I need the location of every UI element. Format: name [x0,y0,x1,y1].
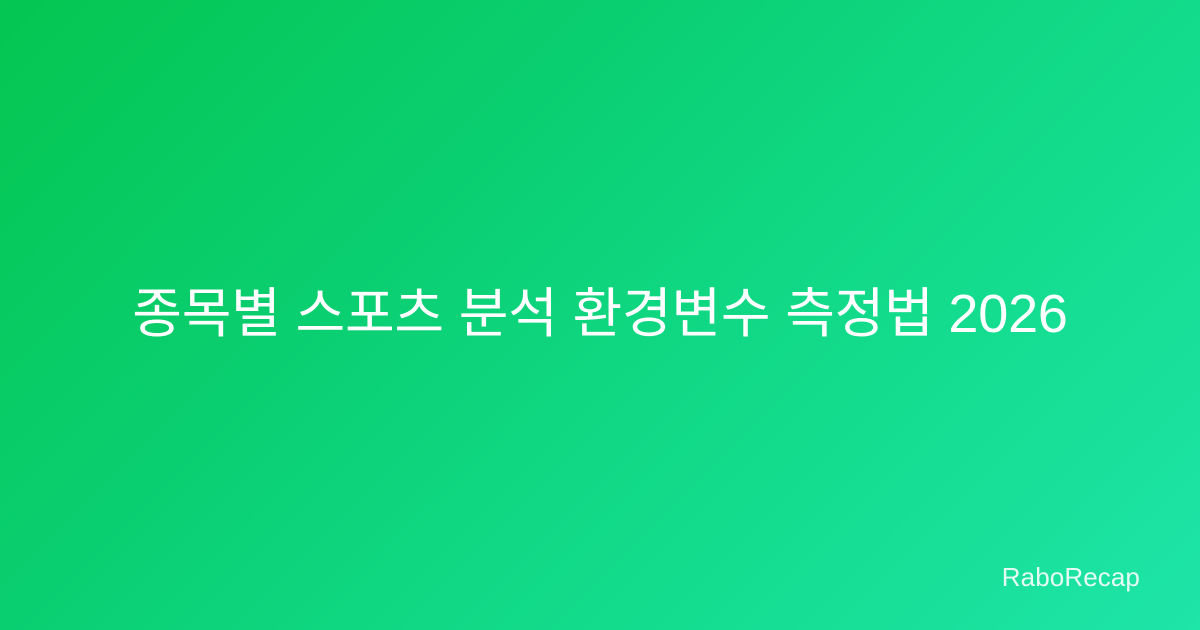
brand-watermark: RaboRecap [1002,564,1140,590]
og-card: 종목별 스포츠 분석 환경변수 측정법 2026 RaboRecap [0,0,1200,630]
page-title: 종목별 스포츠 분석 환경변수 측정법 2026 [124,279,1076,350]
card-content-area: 종목별 스포츠 분석 환경변수 측정법 2026 RaboRecap [0,0,1200,630]
title-block: 종목별 스포츠 분석 환경변수 측정법 2026 [100,279,1100,350]
